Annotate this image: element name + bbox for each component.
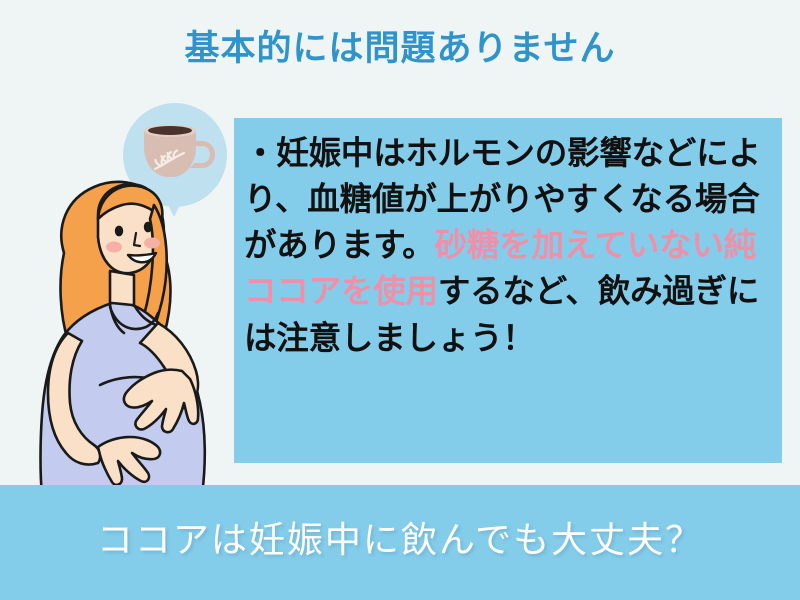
bottom-banner: ココアは妊娠中に飲んでも大丈夫？ [0, 485, 800, 600]
mug-rim [144, 125, 196, 137]
cocoa-mug-icon [144, 127, 202, 179]
main-text-box: ・妊娠中はホルモンの影響などにより、血糖値が上がりやすくなる場合があります。砂糖… [234, 118, 782, 463]
main-text-body: ・妊娠中はホルモンの影響などにより、血糖値が上がりやすくなる場合があります。砂糖… [244, 130, 774, 361]
infographic-slide: 基本的には問題ありません [0, 0, 800, 600]
pregnant-woman-illustration [6, 175, 236, 495]
mug-liquid [148, 126, 192, 135]
page-title: 基本的には問題ありません [0, 28, 800, 70]
banner-title: ココアは妊娠中に飲んでも大丈夫？ [0, 511, 800, 563]
leaf-motif-icon [153, 149, 187, 173]
